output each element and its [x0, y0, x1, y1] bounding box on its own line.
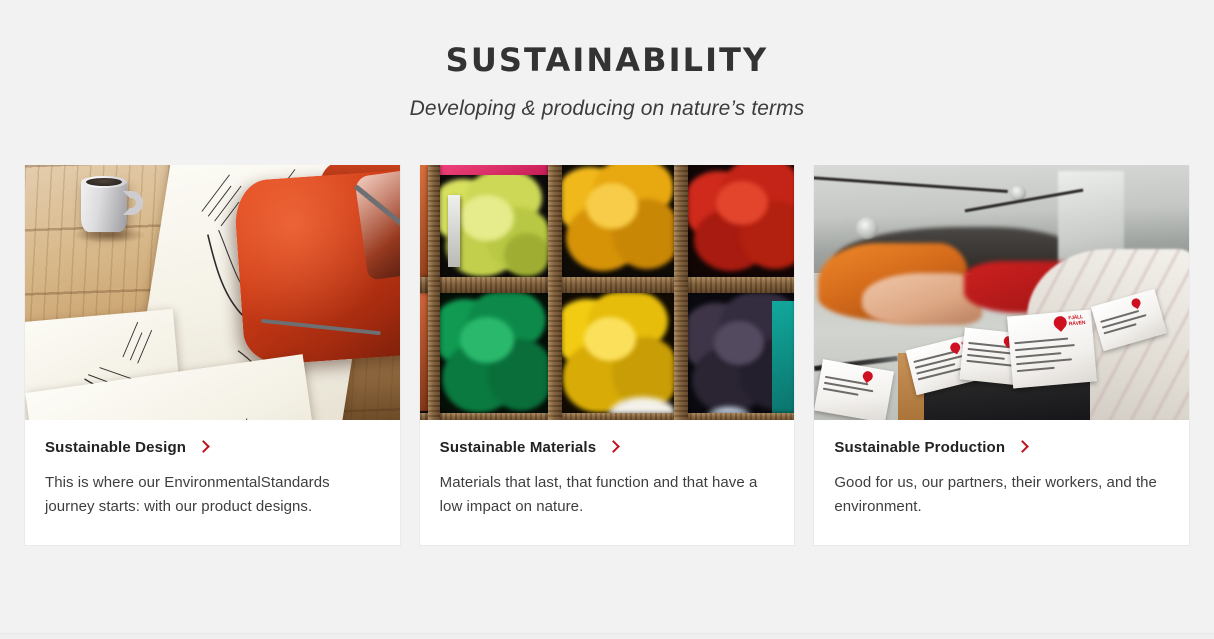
- card-heading-sustainable-production[interactable]: Sustainable Production: [834, 439, 1169, 456]
- card-text-sustainable-materials: Materials that last, that function and t…: [440, 471, 770, 519]
- brand-wordmark: FJÄLLRÄVEN: [1069, 315, 1086, 327]
- card-heading-sustainable-materials[interactable]: Sustainable Materials: [440, 439, 775, 456]
- page-header: SUSTAINABILITY Developing & producing on…: [0, 0, 1214, 120]
- card-sustainable-design[interactable]: Sustainable Design This is where our Env…: [24, 165, 401, 546]
- card-image-sustainable-materials: [420, 165, 795, 420]
- card-grid: Sustainable Design This is where our Env…: [24, 165, 1190, 546]
- card-text-sustainable-production: Good for us, our partners, their workers…: [834, 471, 1164, 519]
- card-heading-label: Sustainable Materials: [440, 439, 597, 456]
- page-subtitle: Developing & producing on nature’s terms: [0, 97, 1214, 120]
- arctic-fox-mark: [861, 369, 875, 383]
- card-image-sustainable-production: FJÄLLRÄVEN FJÄLLRÄVEN: [814, 165, 1189, 420]
- wool-teal: [772, 301, 795, 420]
- arctic-fox-mark: [1130, 297, 1142, 309]
- wool-cell-teal: [772, 301, 795, 420]
- mug-coffee: [86, 178, 122, 186]
- card-heading-label: Sustainable Design: [45, 439, 186, 456]
- page-title: SUSTAINABILITY: [0, 44, 1214, 76]
- brand-label-3: FJÄLLRÄVEN: [1007, 309, 1097, 388]
- chevron-right-icon[interactable]: [1016, 440, 1029, 453]
- card-body-sustainable-design: Sustainable Design This is where our Env…: [25, 420, 400, 545]
- wool-cell-green: [438, 293, 552, 420]
- shelf-beam-horizontal: [420, 277, 795, 293]
- card-sustainable-materials[interactable]: Sustainable Materials Materials that las…: [419, 165, 796, 546]
- shelf-beam-horizontal-lower: [420, 413, 795, 420]
- sustainability-page: SUSTAINABILITY Developing & producing on…: [0, 0, 1214, 639]
- card-image-sustainable-design: [25, 165, 400, 420]
- shelf-beam-vertical-1: [428, 165, 440, 420]
- chevron-right-icon[interactable]: [197, 440, 210, 453]
- wool-cell-golden: [560, 165, 678, 283]
- card-body-sustainable-materials: Sustainable Materials Materials that las…: [420, 420, 795, 545]
- card-heading-label: Sustainable Production: [834, 439, 1005, 456]
- wool-cell-red: [686, 165, 795, 283]
- chevron-right-icon[interactable]: [607, 440, 620, 453]
- fjallraven-logo-3: FJÄLLRÄVEN: [1054, 314, 1089, 333]
- arctic-fox-mark: [1051, 314, 1069, 332]
- shelf-beam-vertical-2: [548, 165, 562, 420]
- card-body-sustainable-production: Sustainable Production Good for us, our …: [814, 420, 1189, 545]
- card-sustainable-production[interactable]: FJÄLLRÄVEN FJÄLLRÄVEN: [813, 165, 1190, 546]
- fjallraven-logo-4: [1131, 294, 1155, 310]
- page-bottom-divider: [0, 633, 1214, 639]
- metal-clip: [448, 195, 460, 267]
- shelf-beam-vertical-3: [674, 165, 688, 420]
- card-text-sustainable-design: This is where our EnvironmentalStandards…: [45, 471, 375, 519]
- card-heading-sustainable-design[interactable]: Sustainable Design: [45, 439, 380, 456]
